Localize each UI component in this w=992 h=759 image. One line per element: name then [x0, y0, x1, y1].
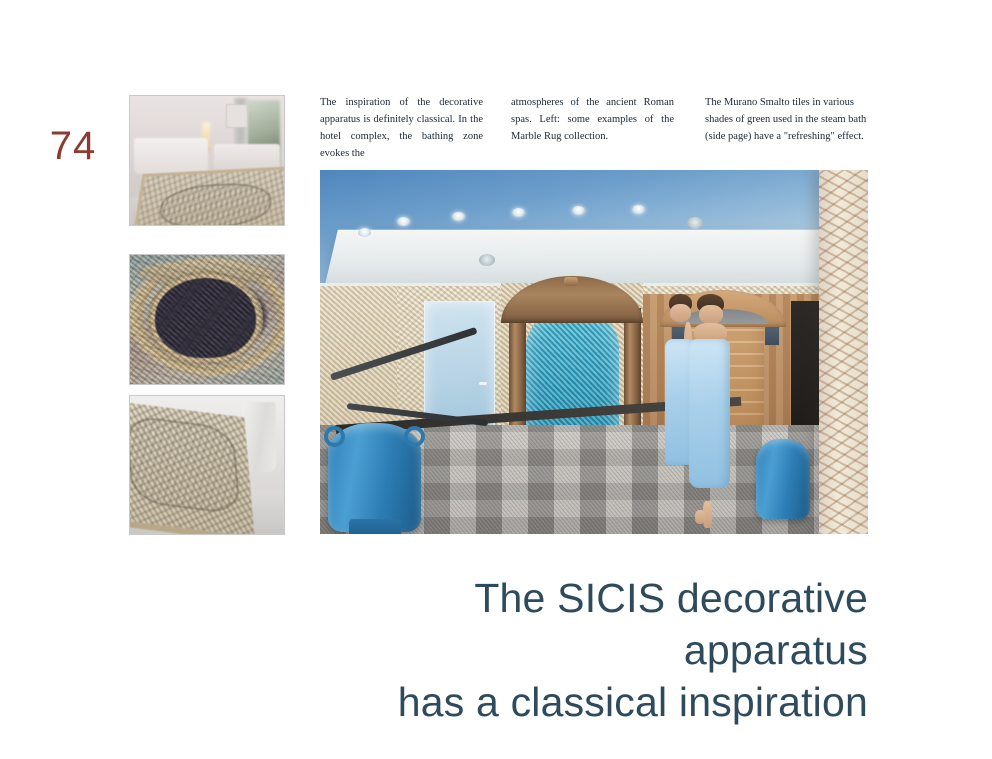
thumbnail-image-3: [130, 396, 284, 534]
caption-text-2: atmospheres of the ancient Roman spas. L…: [511, 94, 674, 145]
arch-keystone: [564, 277, 578, 286]
downlight-icon: [632, 205, 645, 214]
headline-line-2: has a classical inspiration: [300, 676, 868, 728]
blue-towel: [689, 339, 730, 488]
caption-column-1: The inspiration of the decorative appara…: [320, 94, 483, 162]
downlight-icon: [452, 212, 465, 221]
thumbnail-marble-rug-in-bathroom: [129, 95, 285, 226]
page-number: 74: [28, 126, 118, 166]
caption-column-3: The Murano Smalto tiles in various shade…: [705, 94, 875, 145]
bathtub: [134, 138, 208, 174]
magazine-page: 74 The inspirati: [0, 0, 992, 759]
hero-image: [320, 170, 868, 534]
mosaic-rug-border: [130, 401, 255, 534]
ceiling-vent-icon: [479, 254, 495, 266]
blue-ceramic-urn-left: [328, 423, 421, 532]
page-headline: The SICIS decorative apparatus has a cla…: [300, 572, 868, 728]
thumbnail-image-2: [130, 255, 284, 384]
blue-ceramic-urn-right: [756, 439, 811, 519]
thumbnail-mosaic-macro-detail: [129, 254, 285, 385]
urn-handle-left: [324, 426, 345, 447]
hero-photo-roman-spa-interior: [320, 170, 868, 534]
woman-in-towel-front: [687, 294, 734, 520]
caption-text-3: The Murano Smalto tiles in various shade…: [705, 94, 875, 145]
caption-column-2: atmospheres of the ancient Roman spas. L…: [511, 94, 674, 145]
thumbnail-marble-rug-floor-edge: [129, 395, 285, 535]
wall-picture-frame: [226, 104, 248, 128]
headline-line-1: The SICIS decorative apparatus: [300, 572, 868, 676]
bench-seat: [214, 144, 280, 170]
foot: [695, 510, 705, 524]
tesserae-texture: [130, 255, 284, 384]
caption-text-1: The inspiration of the decorative appara…: [320, 94, 483, 162]
mosaic-marble-rug: [132, 166, 284, 225]
speckled-stone-column: [819, 170, 868, 534]
head: [699, 305, 722, 324]
thumbnail-image-1: [130, 96, 284, 225]
